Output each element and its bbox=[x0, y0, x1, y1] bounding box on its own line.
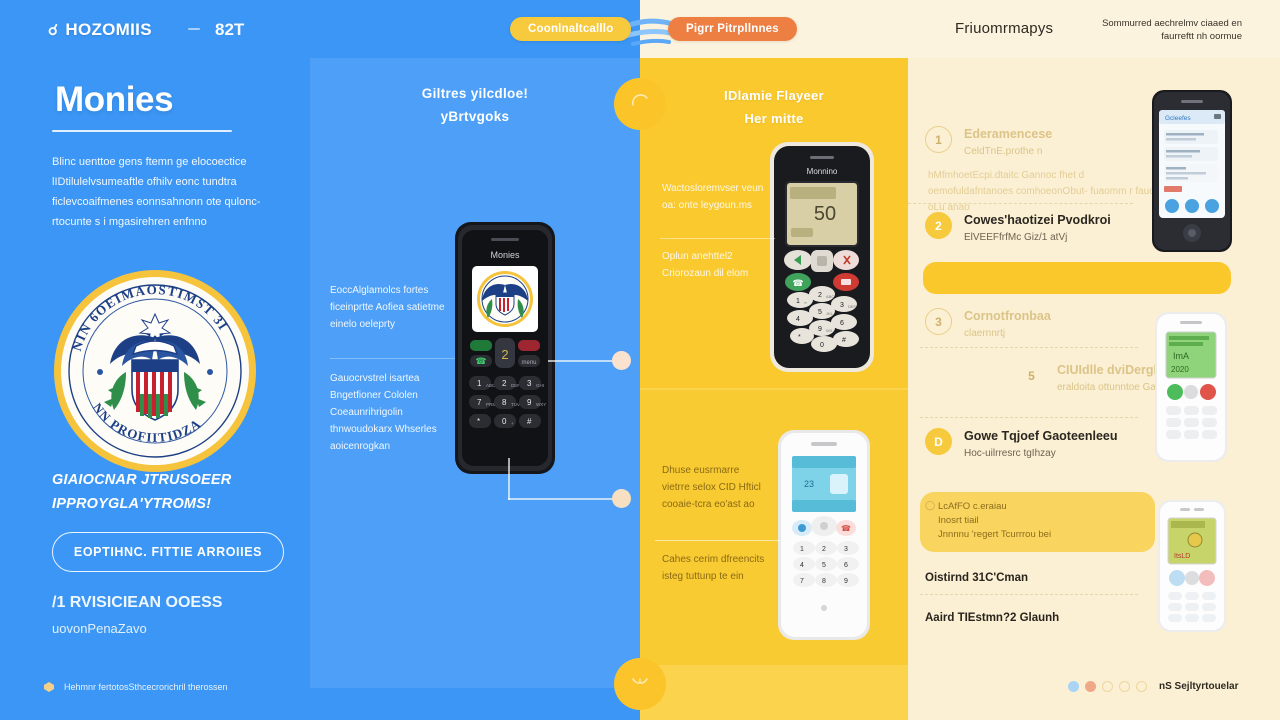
step-desc: CeldTnE.prothe n bbox=[964, 144, 1052, 159]
highlight-panel-line3: Jnnnnu 'regert Tcurrrou bei bbox=[938, 528, 1051, 542]
svg-text:2: 2 bbox=[822, 546, 826, 553]
column2-title-line1: Giltres yilcdloe! bbox=[310, 82, 640, 105]
header-right-title: Friuomrmapys bbox=[955, 20, 1053, 37]
hero-cta-button[interactable]: EOPTIHNC. FITTIE ARROIIES bbox=[52, 532, 284, 572]
title-underline bbox=[52, 130, 232, 132]
connector-node-1 bbox=[612, 351, 631, 370]
svg-text:2: 2 bbox=[502, 379, 507, 388]
white-green-lcd-phone: ImA 2020 bbox=[1155, 312, 1227, 467]
pagination-dot-4[interactable] bbox=[1119, 681, 1130, 692]
hero-paragraph: Blinc uenttoe gens ftemn ge elocoectice … bbox=[52, 152, 295, 232]
list-item-step-6[interactable]: D Gowe Tqjoef Gaoteenleeu Hoc-uilrresrc … bbox=[925, 428, 1118, 461]
list-item-step-2[interactable]: 2 Cowes'haotizei Pvodkroi ElVEEFfrfMc Gi… bbox=[925, 212, 1111, 245]
hero-subtitle: GIAIOCNAR JTRUSOEER IPPROYGLA'YTROMS! bbox=[52, 468, 312, 516]
column2-title-line2: yBrtvgoks bbox=[310, 105, 640, 128]
circle-outline-icon: ◯ bbox=[925, 500, 935, 511]
white-blue-screen-phone: 23 ☎ 1 2 3 4 5 6 7 8 9 bbox=[778, 430, 870, 645]
secondary-action-button[interactable]: Pigrr Pitrpllnnes bbox=[668, 17, 797, 41]
table-row: Aaird TIEstmn?2 Glaunh bbox=[925, 612, 1059, 624]
svg-text:4: 4 bbox=[800, 562, 804, 569]
infographic-page: ☌ HOZOMIIS 82T Coonlnaltcalllo Pigrr Pit… bbox=[0, 0, 1280, 720]
svg-text:ABC: ABC bbox=[826, 294, 834, 299]
svg-text:☎: ☎ bbox=[792, 278, 803, 288]
hero-footer-text: /1 RVISICIEAN OOESS uovonPenaZavo bbox=[52, 590, 302, 642]
svg-text:DEF: DEF bbox=[511, 383, 520, 388]
step-text: Cornotfronbaa claernnrtj bbox=[964, 308, 1051, 341]
svg-text:3: 3 bbox=[844, 546, 848, 553]
column2-divider bbox=[330, 358, 455, 359]
svg-text:0: 0 bbox=[820, 342, 824, 349]
header-count: 82T bbox=[215, 20, 244, 40]
highlight-bar[interactable] bbox=[923, 262, 1231, 294]
pagination-label: nS Sejltyrtouelar bbox=[1159, 681, 1238, 692]
svg-text:0: 0 bbox=[502, 417, 507, 426]
column3-text-4: Cahes cerim dfreencits isteg tuttunp te … bbox=[662, 551, 767, 585]
svg-text:3: 3 bbox=[527, 379, 532, 388]
svg-text:8: 8 bbox=[822, 578, 826, 585]
svg-text:*: * bbox=[798, 334, 801, 341]
divider-badge-bottom[interactable] bbox=[614, 658, 666, 710]
svg-text:2020: 2020 bbox=[1171, 365, 1189, 374]
column3-title-line1: IDlamie Flayeer bbox=[645, 84, 903, 107]
svg-text:2: 2 bbox=[501, 347, 508, 362]
column3-text-1: Wactosloremvser veun oa: onte leygoun.ms bbox=[662, 180, 767, 214]
shield-icon bbox=[42, 681, 56, 693]
step-badge: 2 bbox=[925, 212, 952, 239]
svg-text:menu: menu bbox=[521, 360, 536, 366]
column4-dashed-divider-2 bbox=[920, 347, 1138, 348]
svg-text:ImA: ImA bbox=[1173, 351, 1189, 361]
step-desc: ElVEEFfrfMc Giz/1 atVj bbox=[964, 230, 1111, 245]
svg-text:1: 1 bbox=[800, 546, 804, 553]
svg-text:50: 50 bbox=[814, 203, 836, 225]
key-icon: ☌ bbox=[48, 21, 58, 39]
svg-text:1: 1 bbox=[477, 379, 482, 388]
svg-text:PRS: PRS bbox=[486, 402, 495, 407]
phone-screen-header: Gcleefes bbox=[1165, 115, 1191, 122]
svg-text:9: 9 bbox=[844, 578, 848, 585]
column4-dashed-divider-3 bbox=[920, 417, 1138, 418]
svg-text:☎: ☎ bbox=[841, 524, 851, 533]
svg-text:8: 8 bbox=[502, 398, 507, 407]
highlight-panel-line2: Inosrt tiail bbox=[938, 514, 1051, 528]
column4-dashed-divider-4 bbox=[920, 594, 1138, 595]
highlight-panel-text: LcAfFO c.eraiau Inosrt tiail Jnnnnu 'reg… bbox=[938, 500, 1051, 542]
column3-text-3: Dhuse eusrmarre vietrre selox CID Hfticl… bbox=[662, 462, 767, 513]
brand-logo[interactable]: ☌ HOZOMIIS bbox=[48, 20, 152, 40]
svg-text:9: 9 bbox=[818, 326, 822, 333]
svg-text:9: 9 bbox=[527, 398, 532, 407]
svg-text:∞: ∞ bbox=[804, 300, 807, 305]
step-badge: D bbox=[925, 428, 952, 455]
column4-paragraph: hMfmhoetEcpi.dtaitc Gannoc fhet d oemofu… bbox=[928, 168, 1168, 216]
svg-text:WX: WX bbox=[826, 328, 833, 333]
svg-text:6: 6 bbox=[844, 562, 848, 569]
column2-text-block-1: EoccAlglamolcs fortes ficeinprtte Aofiea… bbox=[330, 282, 455, 333]
svg-text:#: # bbox=[527, 417, 532, 426]
footnote-label: Hehmnr fertotosSthcecrorichril therossen bbox=[64, 682, 228, 692]
svg-text:#: # bbox=[842, 337, 846, 344]
black-touchscreen-phone: Gcleefes bbox=[1152, 90, 1232, 257]
svg-text:ItsLD: ItsLD bbox=[1174, 553, 1190, 560]
column3-title-line2: Her mitte bbox=[645, 107, 903, 130]
primary-action-button[interactable]: Coonlnaltcalllo bbox=[510, 17, 631, 41]
step-text: Gowe Tqjoef Gaoteenleeu Hoc-uilrresrc tg… bbox=[964, 428, 1118, 461]
hero-footer-line2: uovonPenaZavo bbox=[52, 616, 302, 642]
step-badge: 1 bbox=[925, 126, 952, 153]
step-title: Cornotfronbaa bbox=[964, 308, 1051, 324]
svg-text:*: * bbox=[477, 417, 480, 426]
brand-separator bbox=[188, 28, 200, 30]
svg-text:4: 4 bbox=[796, 316, 800, 323]
classic-keypad-phone: Monnino 50 ☎ 1∞ 2ABC 5JKL 3DEF 4 bbox=[770, 142, 874, 377]
connector-node-2 bbox=[612, 489, 631, 508]
government-seal: NIN 6OEIMAOSTIMST 3I NN PROFIITIDZA bbox=[52, 268, 258, 474]
svg-text:5: 5 bbox=[818, 309, 822, 316]
step-title: Ederamencese bbox=[964, 126, 1052, 142]
list-item-step-3[interactable]: 3 Cornotfronbaa claernnrtj bbox=[925, 308, 1051, 341]
svg-text:2: 2 bbox=[818, 292, 822, 299]
svg-text:6: 6 bbox=[840, 320, 844, 327]
step-desc: Hoc-uilrresrc tgIhzay bbox=[964, 446, 1118, 461]
pagination-dot-2[interactable] bbox=[1085, 681, 1096, 692]
connector-line-vertical bbox=[508, 458, 510, 500]
svg-text:Monnino: Monnino bbox=[807, 167, 838, 176]
pagination-dots[interactable]: nS Sejltyrtouelar bbox=[1068, 681, 1238, 692]
column3-divider-2 bbox=[655, 540, 780, 541]
brand-label: HOZOMIIS bbox=[65, 20, 151, 40]
svg-text:☎: ☎ bbox=[475, 356, 486, 366]
column3-divider-1 bbox=[660, 238, 775, 239]
svg-text:TUV: TUV bbox=[511, 402, 520, 407]
svg-text:1: 1 bbox=[796, 298, 800, 305]
column3-title: IDlamie Flayeer Her mitte bbox=[645, 84, 903, 130]
svg-text:Monies: Monies bbox=[490, 250, 520, 260]
small-white-lcd-phone: ItsLD bbox=[1158, 500, 1226, 637]
pagination-dot-5[interactable] bbox=[1136, 681, 1147, 692]
header-right-subtitle: Sommurred aechrelmv ciaaed en faurreftt … bbox=[1092, 17, 1242, 43]
svg-text:5: 5 bbox=[822, 562, 826, 569]
list-item-step-1[interactable]: 1 Ederamencese CeldTnE.prothe n bbox=[925, 126, 1052, 159]
step-title: Gowe Tqjoef Gaoteenleeu bbox=[964, 428, 1118, 444]
connector-line-2 bbox=[508, 498, 624, 500]
step-badge: 5 bbox=[1018, 362, 1045, 389]
hero-footer-line1: /1 RVISICIEAN OOESS bbox=[52, 590, 302, 616]
page-title: Monies bbox=[55, 80, 173, 120]
top-bar: ☌ HOZOMIIS 82T Coonlnaltcalllo Pigrr Pit… bbox=[0, 0, 1280, 58]
step-desc: claernnrtj bbox=[964, 326, 1051, 341]
svg-text:JKL: JKL bbox=[826, 311, 834, 316]
svg-text:7: 7 bbox=[800, 578, 804, 585]
footnote: Hehmnr fertotosSthcecrorichril therossen bbox=[42, 681, 228, 693]
svg-text:DEF: DEF bbox=[848, 304, 857, 309]
column3-text-2: Oplun anehttel2 Criorozaun dil elom bbox=[662, 248, 767, 282]
step-text: Ederamencese CeldTnE.prothe n bbox=[964, 126, 1052, 159]
column2-text-block-2: Gauocrvstrel isartea Bngetfioner Cololen… bbox=[330, 370, 460, 455]
column4-dashed-divider-1 bbox=[908, 203, 1133, 204]
table-row: Oistirnd 31C'Cman bbox=[925, 572, 1028, 584]
highlight-panel-line1: LcAfFO c.eraiau bbox=[938, 500, 1051, 514]
svg-text:WXY: WXY bbox=[536, 402, 546, 407]
svg-text:23: 23 bbox=[804, 479, 814, 489]
step-text: Cowes'haotizei Pvodkroi ElVEEFfrfMc Giz/… bbox=[964, 212, 1111, 245]
smile-icon bbox=[628, 670, 652, 699]
dark-feature-phone: Monies ☎ menu bbox=[455, 222, 555, 479]
svg-text:GHI: GHI bbox=[536, 383, 544, 388]
svg-text:3: 3 bbox=[840, 302, 844, 309]
step-title: Cowes'haotizei Pvodkroi bbox=[964, 212, 1111, 228]
pagination-dot-3[interactable] bbox=[1102, 681, 1113, 692]
pagination-dot-1[interactable] bbox=[1068, 681, 1079, 692]
svg-text:7: 7 bbox=[477, 398, 482, 407]
svg-text:+: + bbox=[511, 421, 514, 426]
step-badge: 3 bbox=[925, 308, 952, 335]
column2-title: Giltres yilcdloe! yBrtvgoks bbox=[310, 82, 640, 128]
